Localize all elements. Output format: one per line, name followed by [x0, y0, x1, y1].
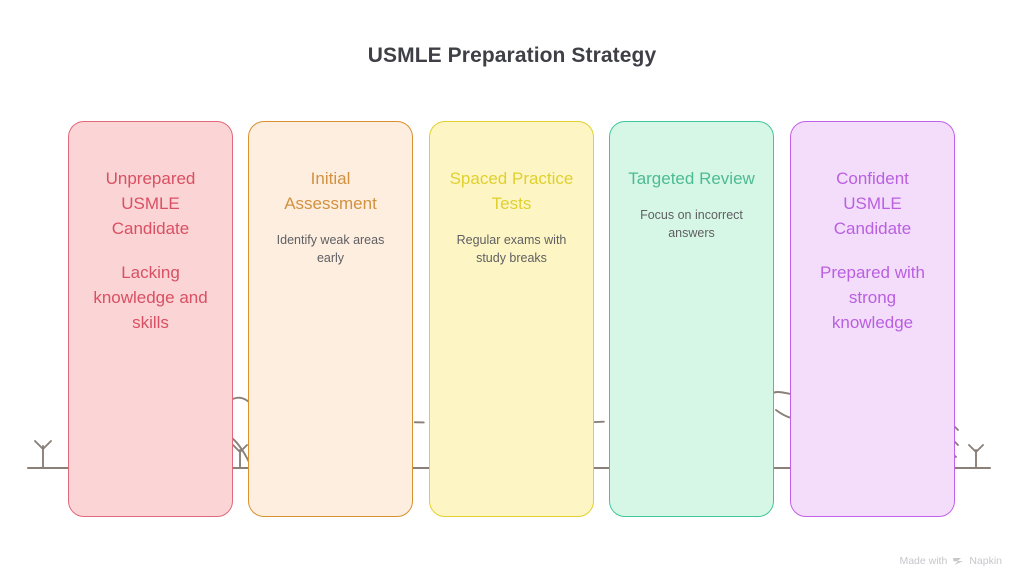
made-with-napkin-watermark[interactable]: Made with Napkin	[899, 555, 1002, 567]
stage-title-line: Tests	[442, 191, 581, 216]
stage-title-line: Assessment	[261, 191, 400, 216]
stage-subtitle-line: answers	[624, 224, 759, 242]
napkin-brand-label: Napkin	[969, 555, 1002, 567]
stage-subtitle-unprepared-candidate: Lackingknowledge andskills	[69, 260, 232, 335]
stage-card-row: UnpreparedUSMLECandidateLackingknowledge…	[0, 121, 1024, 518]
stage-subtitle-line: knowledge	[805, 310, 940, 335]
stage-subtitle-line: early	[263, 249, 398, 267]
stage-card-initial-assessment[interactable]: InitialAssessmentIdentify weak areasearl…	[248, 121, 413, 517]
page-title: USMLE Preparation Strategy	[0, 44, 1024, 68]
stage-title-line: USMLE	[803, 191, 942, 216]
stage-subtitle-confident-candidate: Prepared withstrongknowledge	[791, 260, 954, 335]
made-with-label: Made with	[899, 555, 947, 567]
stage-subtitle-line: Prepared with	[805, 260, 940, 285]
stage-title-initial-assessment: InitialAssessment	[249, 166, 412, 216]
stage-subtitle-line: Lacking	[83, 260, 218, 285]
stage-title-line: Initial	[261, 166, 400, 191]
stage-title-line: USMLE	[81, 191, 220, 216]
stage-subtitle-line: knowledge and	[83, 285, 218, 310]
stage-subtitle-targeted-review: Focus on incorrectanswers	[610, 206, 773, 242]
stage-title-line: Candidate	[803, 216, 942, 241]
stage-title-line: Unprepared	[81, 166, 220, 191]
stage-title-confident-candidate: ConfidentUSMLECandidate	[791, 166, 954, 241]
stage-title-spaced-practice-tests: Spaced PracticeTests	[430, 166, 593, 216]
stage-subtitle-initial-assessment: Identify weak areasearly	[249, 231, 412, 267]
stage-subtitle-spaced-practice-tests: Regular exams withstudy breaks	[430, 231, 593, 267]
stage-subtitle-line: strong	[805, 285, 940, 310]
stage-title-line: Candidate	[81, 216, 220, 241]
stage-title-line: Confident	[803, 166, 942, 191]
napkin-leaf-icon	[952, 555, 964, 567]
stage-title-line: Targeted Review	[622, 166, 761, 191]
stage-title-unprepared-candidate: UnpreparedUSMLECandidate	[69, 166, 232, 241]
stage-subtitle-line: Focus on incorrect	[624, 206, 759, 224]
stage-subtitle-line: Regular exams with	[444, 231, 579, 249]
stage-card-targeted-review[interactable]: Targeted ReviewFocus on incorrectanswers	[609, 121, 774, 517]
stage-card-spaced-practice-tests[interactable]: Spaced PracticeTestsRegular exams withst…	[429, 121, 594, 517]
stage-title-line: Spaced Practice	[442, 166, 581, 191]
stage-subtitle-line: study breaks	[444, 249, 579, 267]
stage-subtitle-line: skills	[83, 310, 218, 335]
stage-card-unprepared-candidate[interactable]: UnpreparedUSMLECandidateLackingknowledge…	[68, 121, 233, 517]
stage-subtitle-line: Identify weak areas	[263, 231, 398, 249]
stage-title-targeted-review: Targeted Review	[610, 166, 773, 191]
stage-card-confident-candidate[interactable]: ConfidentUSMLECandidatePrepared withstro…	[790, 121, 955, 517]
